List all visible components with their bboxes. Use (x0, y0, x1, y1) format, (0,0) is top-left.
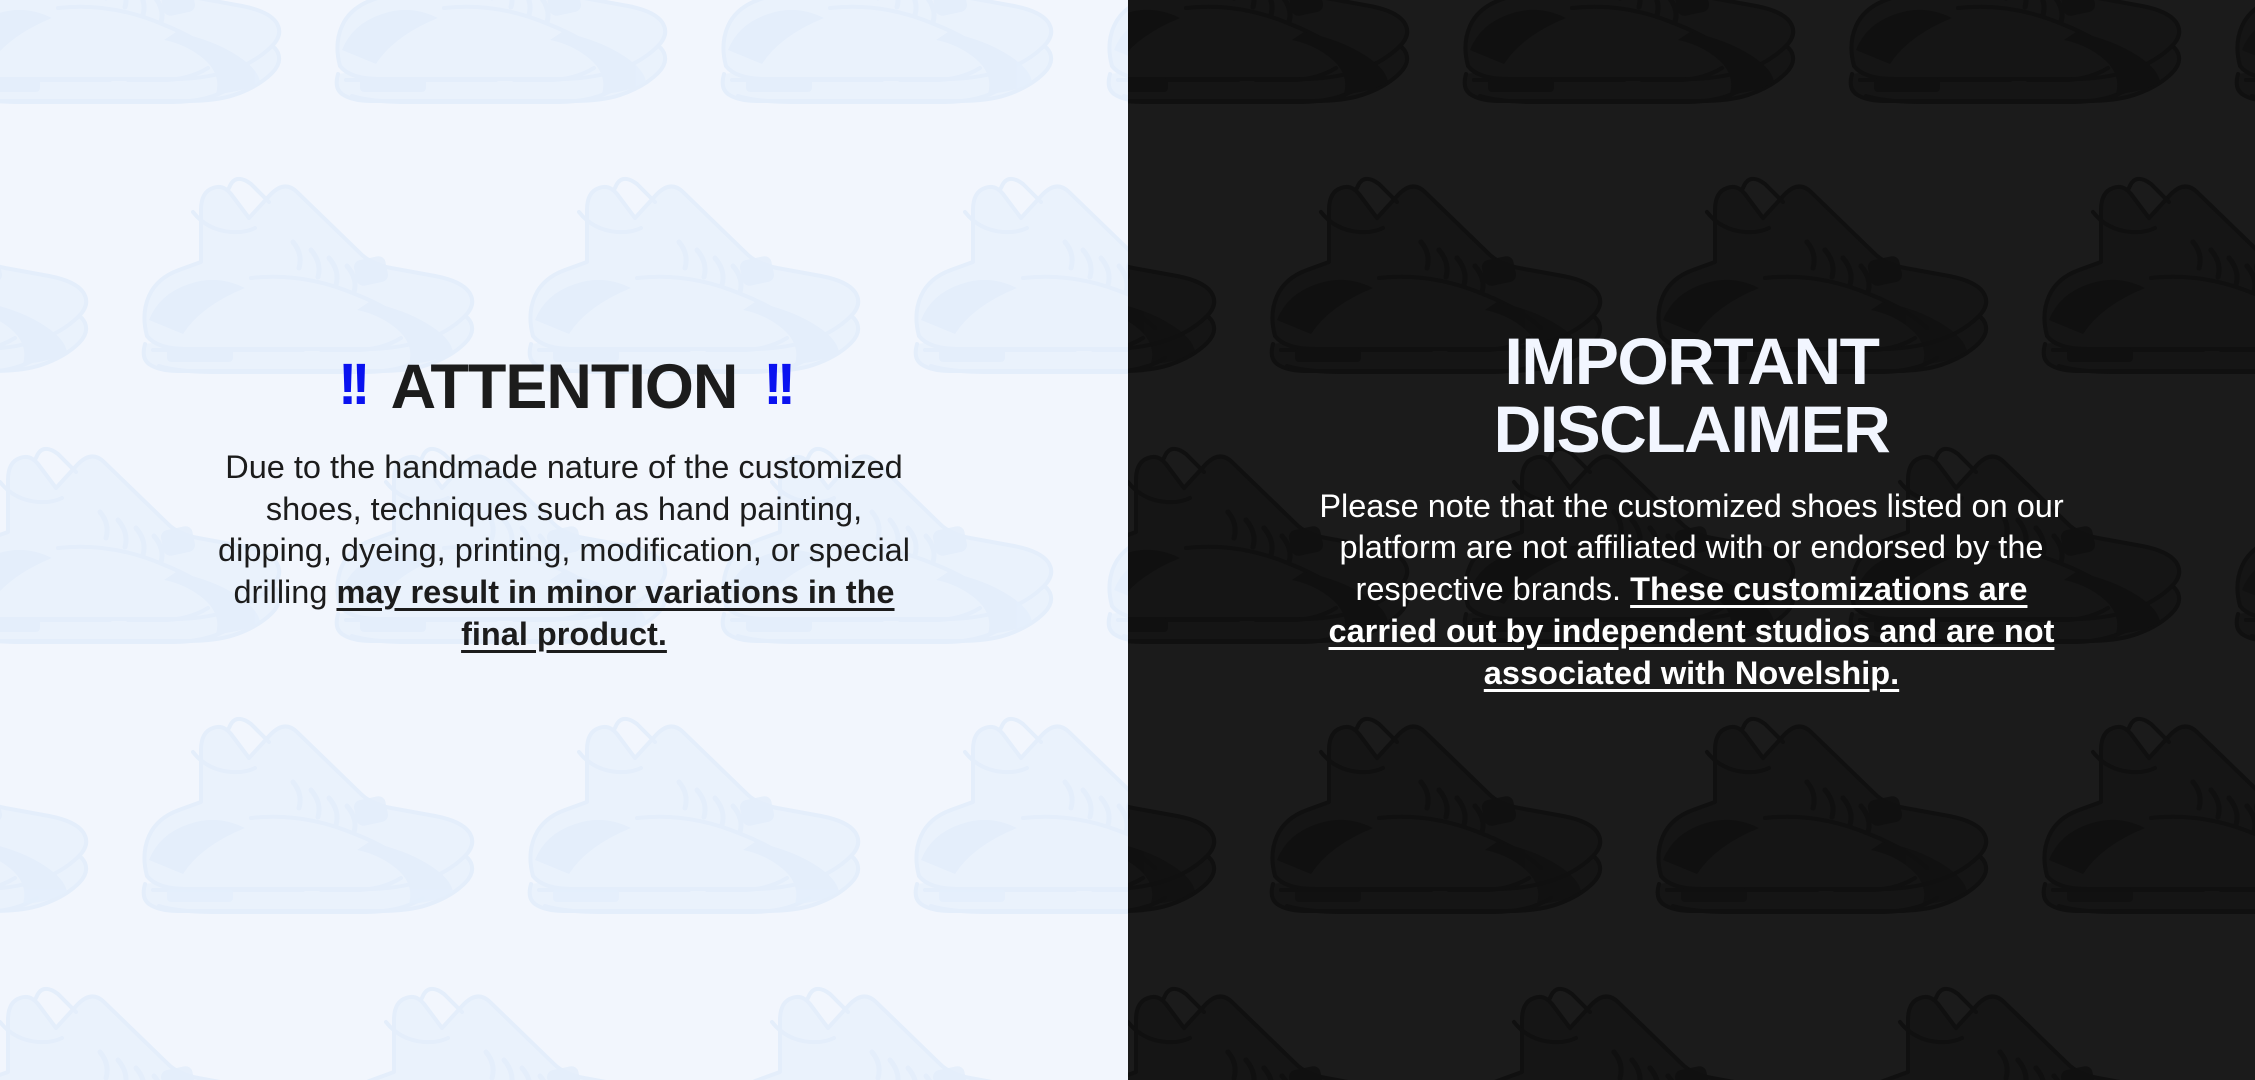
disclaimer-content: IMPORTANTDISCLAIMER Please note that the… (1272, 328, 2112, 695)
double-exclamation-icon: !! (338, 356, 365, 414)
attention-heading-text: ATTENTION (391, 355, 738, 419)
disclaimer-body: Please note that the customized shoes li… (1312, 486, 2072, 695)
attention-body: Due to the handmade nature of the custom… (214, 447, 914, 656)
attention-content: !! ATTENTION !! Due to the handmade natu… (149, 355, 979, 656)
disclaimer-banner: !! ATTENTION !! Due to the handmade natu… (0, 0, 2255, 1080)
disclaimer-heading-line-two: DISCLAIMER (1494, 392, 1890, 466)
attention-heading: !! ATTENTION !! (338, 355, 790, 419)
attention-body-emphasis: may result in minor variations in the fi… (336, 574, 894, 652)
attention-panel: !! ATTENTION !! Due to the handmade natu… (0, 0, 1128, 1080)
double-exclamation-icon: !! (763, 356, 790, 414)
disclaimer-heading-line-one: IMPORTANT (1505, 324, 1879, 398)
disclaimer-heading: IMPORTANTDISCLAIMER (1494, 328, 1890, 464)
disclaimer-panel: IMPORTANTDISCLAIMER Please note that the… (1128, 0, 2255, 1080)
